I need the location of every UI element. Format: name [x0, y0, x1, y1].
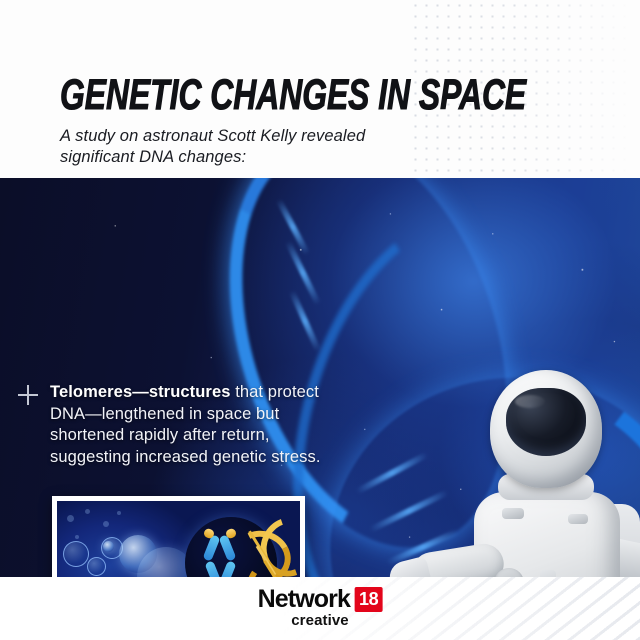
helmet-visor [506, 388, 586, 456]
network18-logo: Network 18 creative [258, 587, 383, 629]
bullet-item-telomeres: Telomeres—structures that protect DNA—le… [18, 382, 328, 468]
chromosome-telomere-illustration [52, 496, 305, 577]
content-panel: Telomeres—structures that protect DNA—le… [0, 178, 640, 577]
logo-wordmark: Network [258, 587, 350, 612]
figure-artwork [57, 501, 300, 577]
header-section: GENETIC CHANGES IN SPACE A study on astr… [0, 0, 640, 178]
footer-section: Network 18 creative [0, 577, 640, 640]
page-subtitle: A study on astronaut Scott Kelly reveale… [60, 126, 420, 168]
bullet-lead-telomeres: Telomeres—structures [50, 383, 231, 401]
plus-icon [18, 385, 38, 405]
page-title: GENETIC CHANGES IN SPACE [60, 74, 526, 117]
bullet-text-telomeres: Telomeres—structures that protect DNA—le… [50, 382, 328, 468]
logo-badge-18: 18 [355, 587, 382, 612]
astronaut-illustration [418, 364, 640, 577]
logo-tagline: creative [258, 613, 383, 629]
infographic-poster: GENETIC CHANGES IN SPACE A study on astr… [0, 0, 640, 640]
